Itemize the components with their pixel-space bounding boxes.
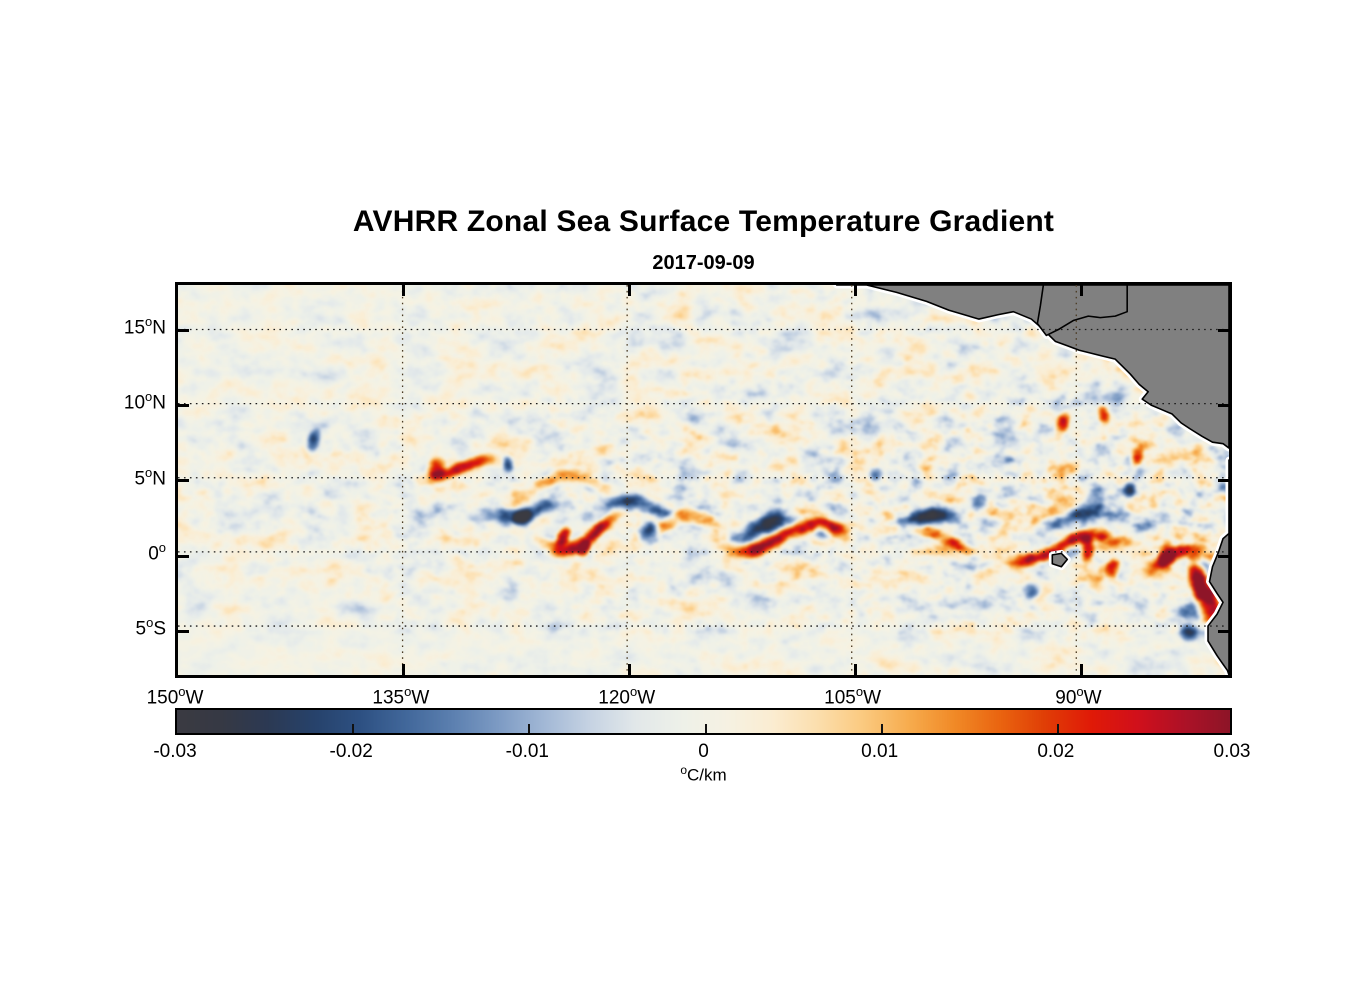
x-axis-tick	[402, 664, 405, 675]
x-axis-tick	[854, 664, 857, 675]
y-axis-tick	[178, 479, 189, 482]
x-axis-tick	[628, 664, 631, 675]
y-axis-tick	[1218, 630, 1229, 633]
land-mask-layer	[178, 285, 1229, 675]
x-axis-tick	[1080, 664, 1083, 675]
colorbar-units-label: oC/km	[680, 763, 726, 786]
y-tick-label: 5oN	[80, 465, 166, 490]
colorbar-tick-label: 0.03	[1214, 741, 1251, 763]
y-tick-label: 0o	[80, 540, 166, 565]
x-axis-tick	[628, 285, 631, 296]
colorbar-tick	[528, 724, 530, 733]
x-tick-label: 105oW	[824, 684, 881, 709]
colorbar-tick-label: 0	[698, 741, 709, 763]
land-polygon	[837, 285, 1229, 448]
colorbar-gradient	[177, 710, 1230, 733]
y-axis-tick	[178, 555, 189, 558]
y-tick-label: 10oN	[80, 389, 166, 414]
colorbar-tick-label: 0.01	[861, 741, 898, 763]
y-tick-label: 15oN	[80, 314, 166, 339]
x-axis-tick	[402, 285, 405, 296]
y-axis-tick	[178, 630, 189, 633]
x-tick-label: 150oW	[147, 684, 204, 709]
figure-canvas: AVHRR Zonal Sea Surface Temperature Grad…	[0, 0, 1356, 1000]
y-axis-tick	[1218, 404, 1229, 407]
y-axis-tick	[1218, 329, 1229, 332]
colorbar-tick	[705, 724, 707, 733]
colorbar-tick-label: -0.03	[153, 741, 196, 763]
x-tick-label: 90oW	[1055, 684, 1101, 709]
x-axis-tick	[854, 285, 857, 296]
colorbar-tick	[881, 724, 883, 733]
colorbar-tick-label: 0.02	[1037, 741, 1074, 763]
y-axis-tick	[178, 329, 189, 332]
y-axis-tick	[178, 404, 189, 407]
x-tick-label: 135oW	[372, 684, 429, 709]
colorbar-tick	[1057, 724, 1059, 733]
figure-subtitle: 2017-09-09	[175, 252, 1232, 275]
figure-title: AVHRR Zonal Sea Surface Temperature Grad…	[175, 205, 1232, 239]
y-axis-tick	[1218, 555, 1229, 558]
x-tick-label: 120oW	[598, 684, 655, 709]
colorbar[interactable]	[175, 708, 1232, 735]
map-axes[interactable]	[175, 282, 1232, 678]
y-axis-tick	[1218, 479, 1229, 482]
y-tick-label: 5oS	[80, 615, 166, 640]
colorbar-tick	[352, 724, 354, 733]
colorbar-tick-label: -0.01	[506, 741, 549, 763]
x-axis-tick	[1080, 285, 1083, 296]
colorbar-tick-label: -0.02	[330, 741, 373, 763]
